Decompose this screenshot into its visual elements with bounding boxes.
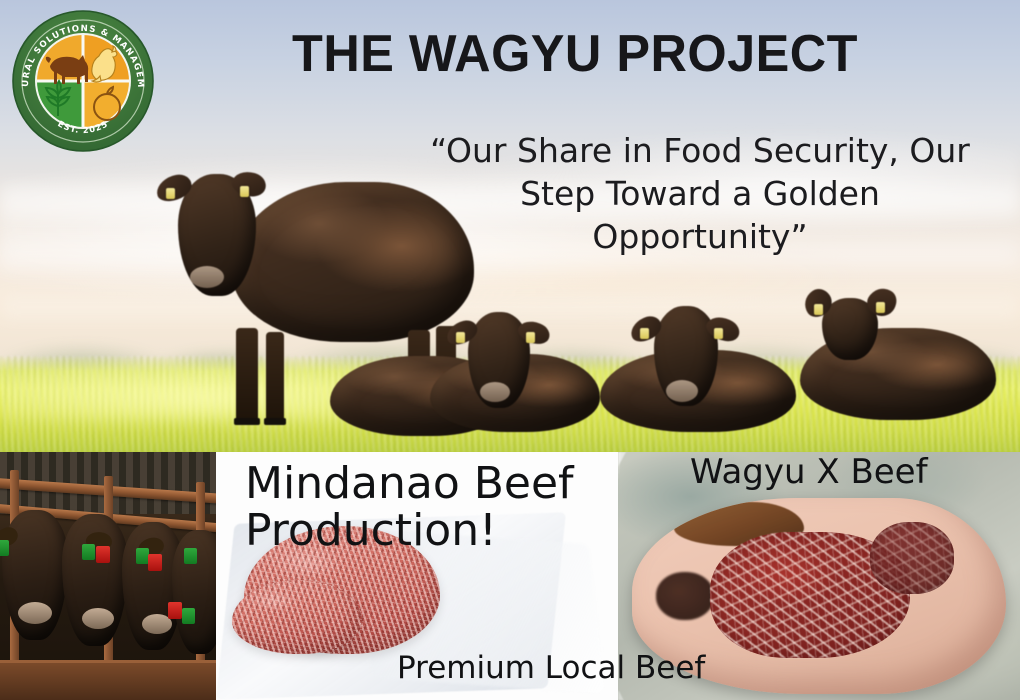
resting-wagyu-cow [430,300,600,440]
barn-cow-muzzle [18,602,52,624]
ear-tag-red [148,554,162,571]
tagline: “Our Share in Food Security, Our Step To… [420,130,980,259]
ear-tag-red [168,602,182,619]
ear-tag [876,302,885,313]
barn-cow-muzzle [82,608,114,629]
resting-wagyu-cow [600,298,800,443]
ear-tag-green [82,544,95,560]
mindanao-beef-production-label: Mindanao Beef Production! [245,461,615,554]
cow-leg [266,332,284,424]
barn-cattle-photo [0,452,216,700]
feed-trough [0,660,216,700]
premium-local-beef-label: Premium Local Beef [397,650,705,686]
ear-tag-green [0,540,9,556]
ear-tag-green [184,548,197,564]
cow-leg [236,328,258,424]
ear-tag [166,188,175,199]
wagyu-x-beef-label: Wagyu X Beef [690,452,928,492]
ground-beef [232,580,362,654]
ear-tag [814,304,823,315]
cow-hoof [264,418,286,425]
resting-wagyu-cow [800,288,1000,440]
cow-hoof [234,418,260,425]
ear-tag [240,186,249,197]
page-title: THE WAGYU PROJECT [260,27,891,81]
wagyu-project-poster: AGRICULTURAL SOLUTIONS & MANAGEMENT, INC… [0,0,1020,700]
ear-tag [714,328,723,339]
cow-muzzle [480,382,510,402]
cow-muzzle [666,380,698,402]
company-logo: AGRICULTURAL SOLUTIONS & MANAGEMENT, INC… [8,6,158,156]
cow-muzzle [190,266,224,288]
ear-tag [526,332,535,343]
ear-tag [640,328,649,339]
ear-tag [456,332,465,343]
ear-tag-green [182,608,195,624]
ear-tag-red [96,546,110,563]
mince-texture [232,580,362,654]
